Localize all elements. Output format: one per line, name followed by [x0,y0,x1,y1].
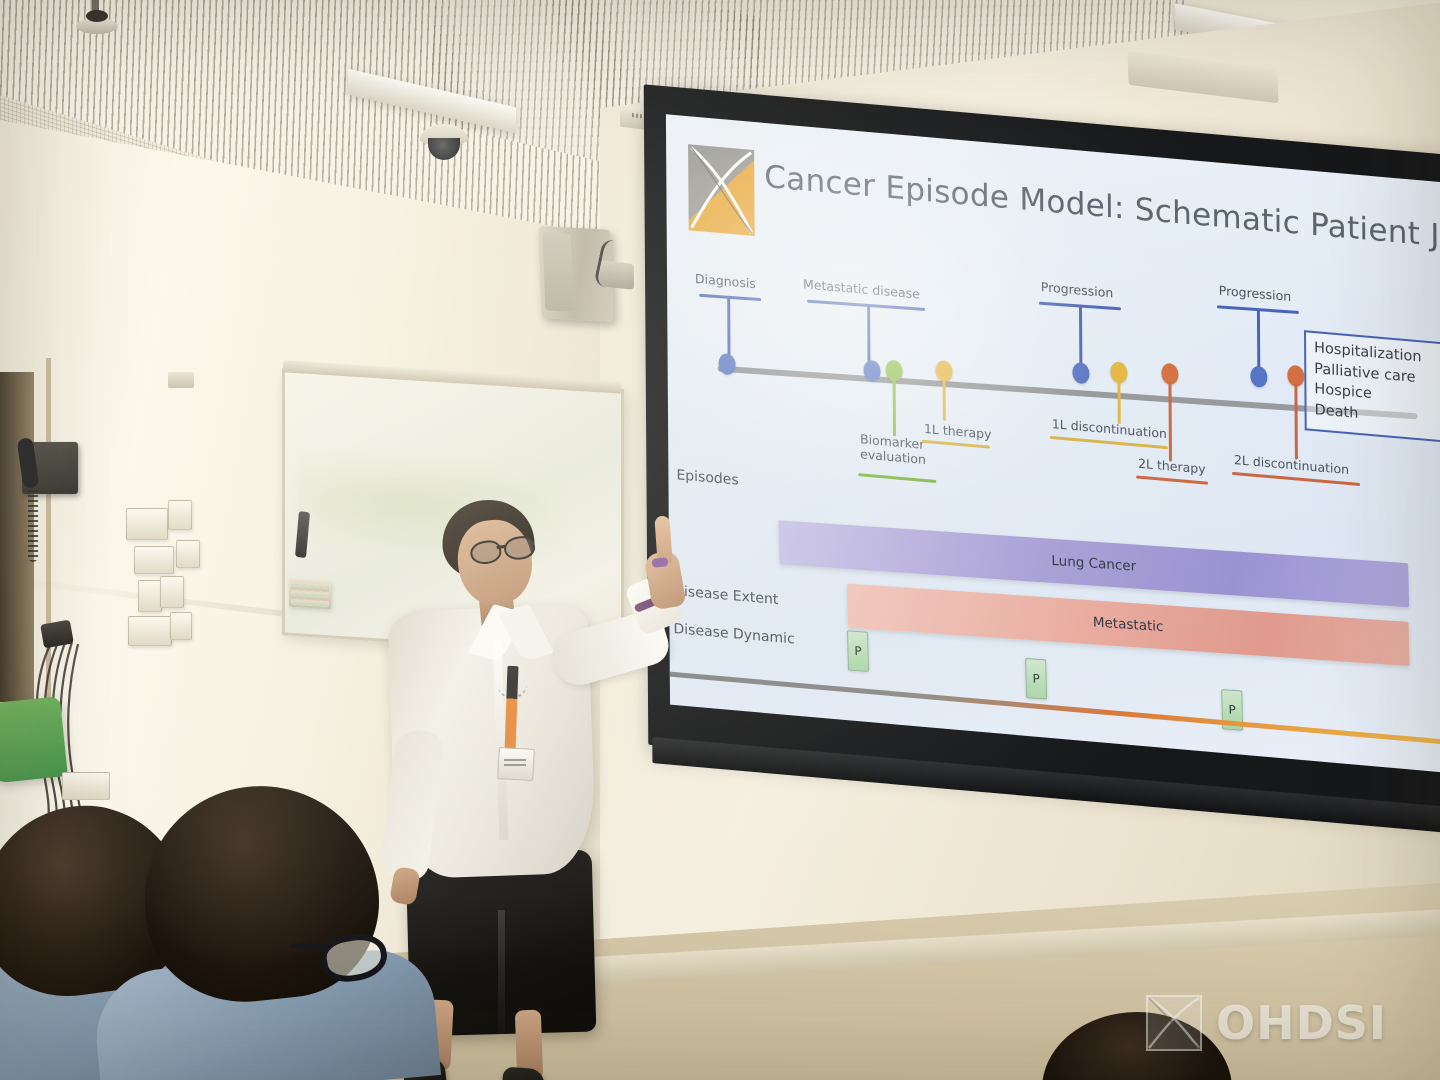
timeline-underline-2l-therapy [1136,475,1208,484]
timeline-label-1l-therapy: 1L therapy [924,421,992,442]
slide-title: Cancer Episode Model: Schematic Patient … [764,159,1440,262]
presenter-culottes-split [498,910,505,1034]
timeline-stem-1l-discontinuation [1117,380,1120,424]
logo-x-arcs-icon [688,144,755,236]
disease-dynamic-marker-1: P [847,630,869,672]
episode-bar-lung-cancer-label: Lung Cancer [1051,553,1136,575]
slide-canvas: Cancer Episode Model: Schematic Patient … [666,114,1440,774]
disease-dynamic-marker-2-label: P [1032,671,1040,686]
speaker-grill [543,232,574,312]
outcome-box: Hospitalization Palliative care Hospice … [1304,330,1440,444]
ohdsi-watermark-logo [1146,995,1202,1051]
timeline-stem-2l-discontinuation [1294,383,1298,459]
wall-outlet-2[interactable] [170,612,192,640]
audience-glasses-temple [291,944,325,950]
wall-switch-6[interactable] [160,576,184,608]
timeline-underline-biomarker [858,473,936,482]
wall-switch-5[interactable] [138,580,162,612]
presentation-photo: Cancer Episode Model: Schematic Patient … [0,0,1440,1080]
outcome-list: Hospitalization Palliative care Hospice … [1314,338,1422,430]
watermark-x-arcs-icon [1146,995,1202,1051]
timeline-label-metastatic-disease: Metastatic disease [803,276,920,301]
disease-dynamic-marker-2: P [1025,658,1047,700]
timeline-stem-progression-2 [1257,310,1260,372]
timeline-stem-1l-therapy [943,379,946,421]
disease-extent-bar-metastatic-label: Metastatic [1093,614,1164,635]
presenter-badge-text-lines [504,756,526,766]
timeline-dot-metastatic [863,360,880,383]
timeline-stem-2l-therapy [1168,381,1172,461]
smoke-detector-icon [168,372,194,388]
projection-screen: Cancer Episode Model: Schematic Patient … [644,84,1440,815]
lecture-room: Cancer Episode Model: Schematic Patient … [0,0,1440,1080]
disease-dynamic-marker-1-label: P [854,644,862,659]
ohdsi-watermark-text: OHDSI [1216,996,1387,1050]
green-chair[interactable] [0,696,68,784]
power-socket[interactable] [62,772,110,800]
timeline-bracket-metastatic [807,300,925,311]
timeline-label-2l-therapy: 2L therapy [1138,456,1206,477]
timeline-dot-diagnosis [719,353,736,376]
ohdsi-logo [688,144,755,236]
sprinkler-assembly [0,0,200,60]
ohdsi-watermark: OHDSI [1146,992,1428,1054]
wall-switch-1[interactable] [126,508,168,540]
timeline-dot-progression-1 [1072,362,1089,385]
timeline-underline-1l-therapy [922,440,990,448]
timeline-dot-progression-2 [1250,365,1267,388]
timeline-stem-biomarker [893,378,896,436]
timeline-label-progression-2: Progression [1219,283,1291,304]
wall-outlet-1[interactable] [128,616,172,646]
wall-switch-2[interactable] [168,500,192,530]
whiteboard-markers-set[interactable] [291,581,329,607]
cable-clamp [40,620,74,649]
wall-switch-3[interactable] [134,546,174,574]
whiteboard-tray [289,579,331,610]
sprinkler-cap [86,10,108,22]
disease-dynamic-marker-3-label: P [1228,703,1236,718]
wall-switch-4[interactable] [176,540,200,568]
timeline-stem-metastatic [867,306,870,368]
timeline-label-biomarker-evaluation: Biomarker evaluation [860,431,926,467]
timeline-label-progression-1: Progression [1041,279,1113,300]
phone-cord [28,486,38,562]
timeline-label-diagnosis: Diagnosis [695,271,756,291]
timeline-stem-progression-1 [1079,306,1082,368]
